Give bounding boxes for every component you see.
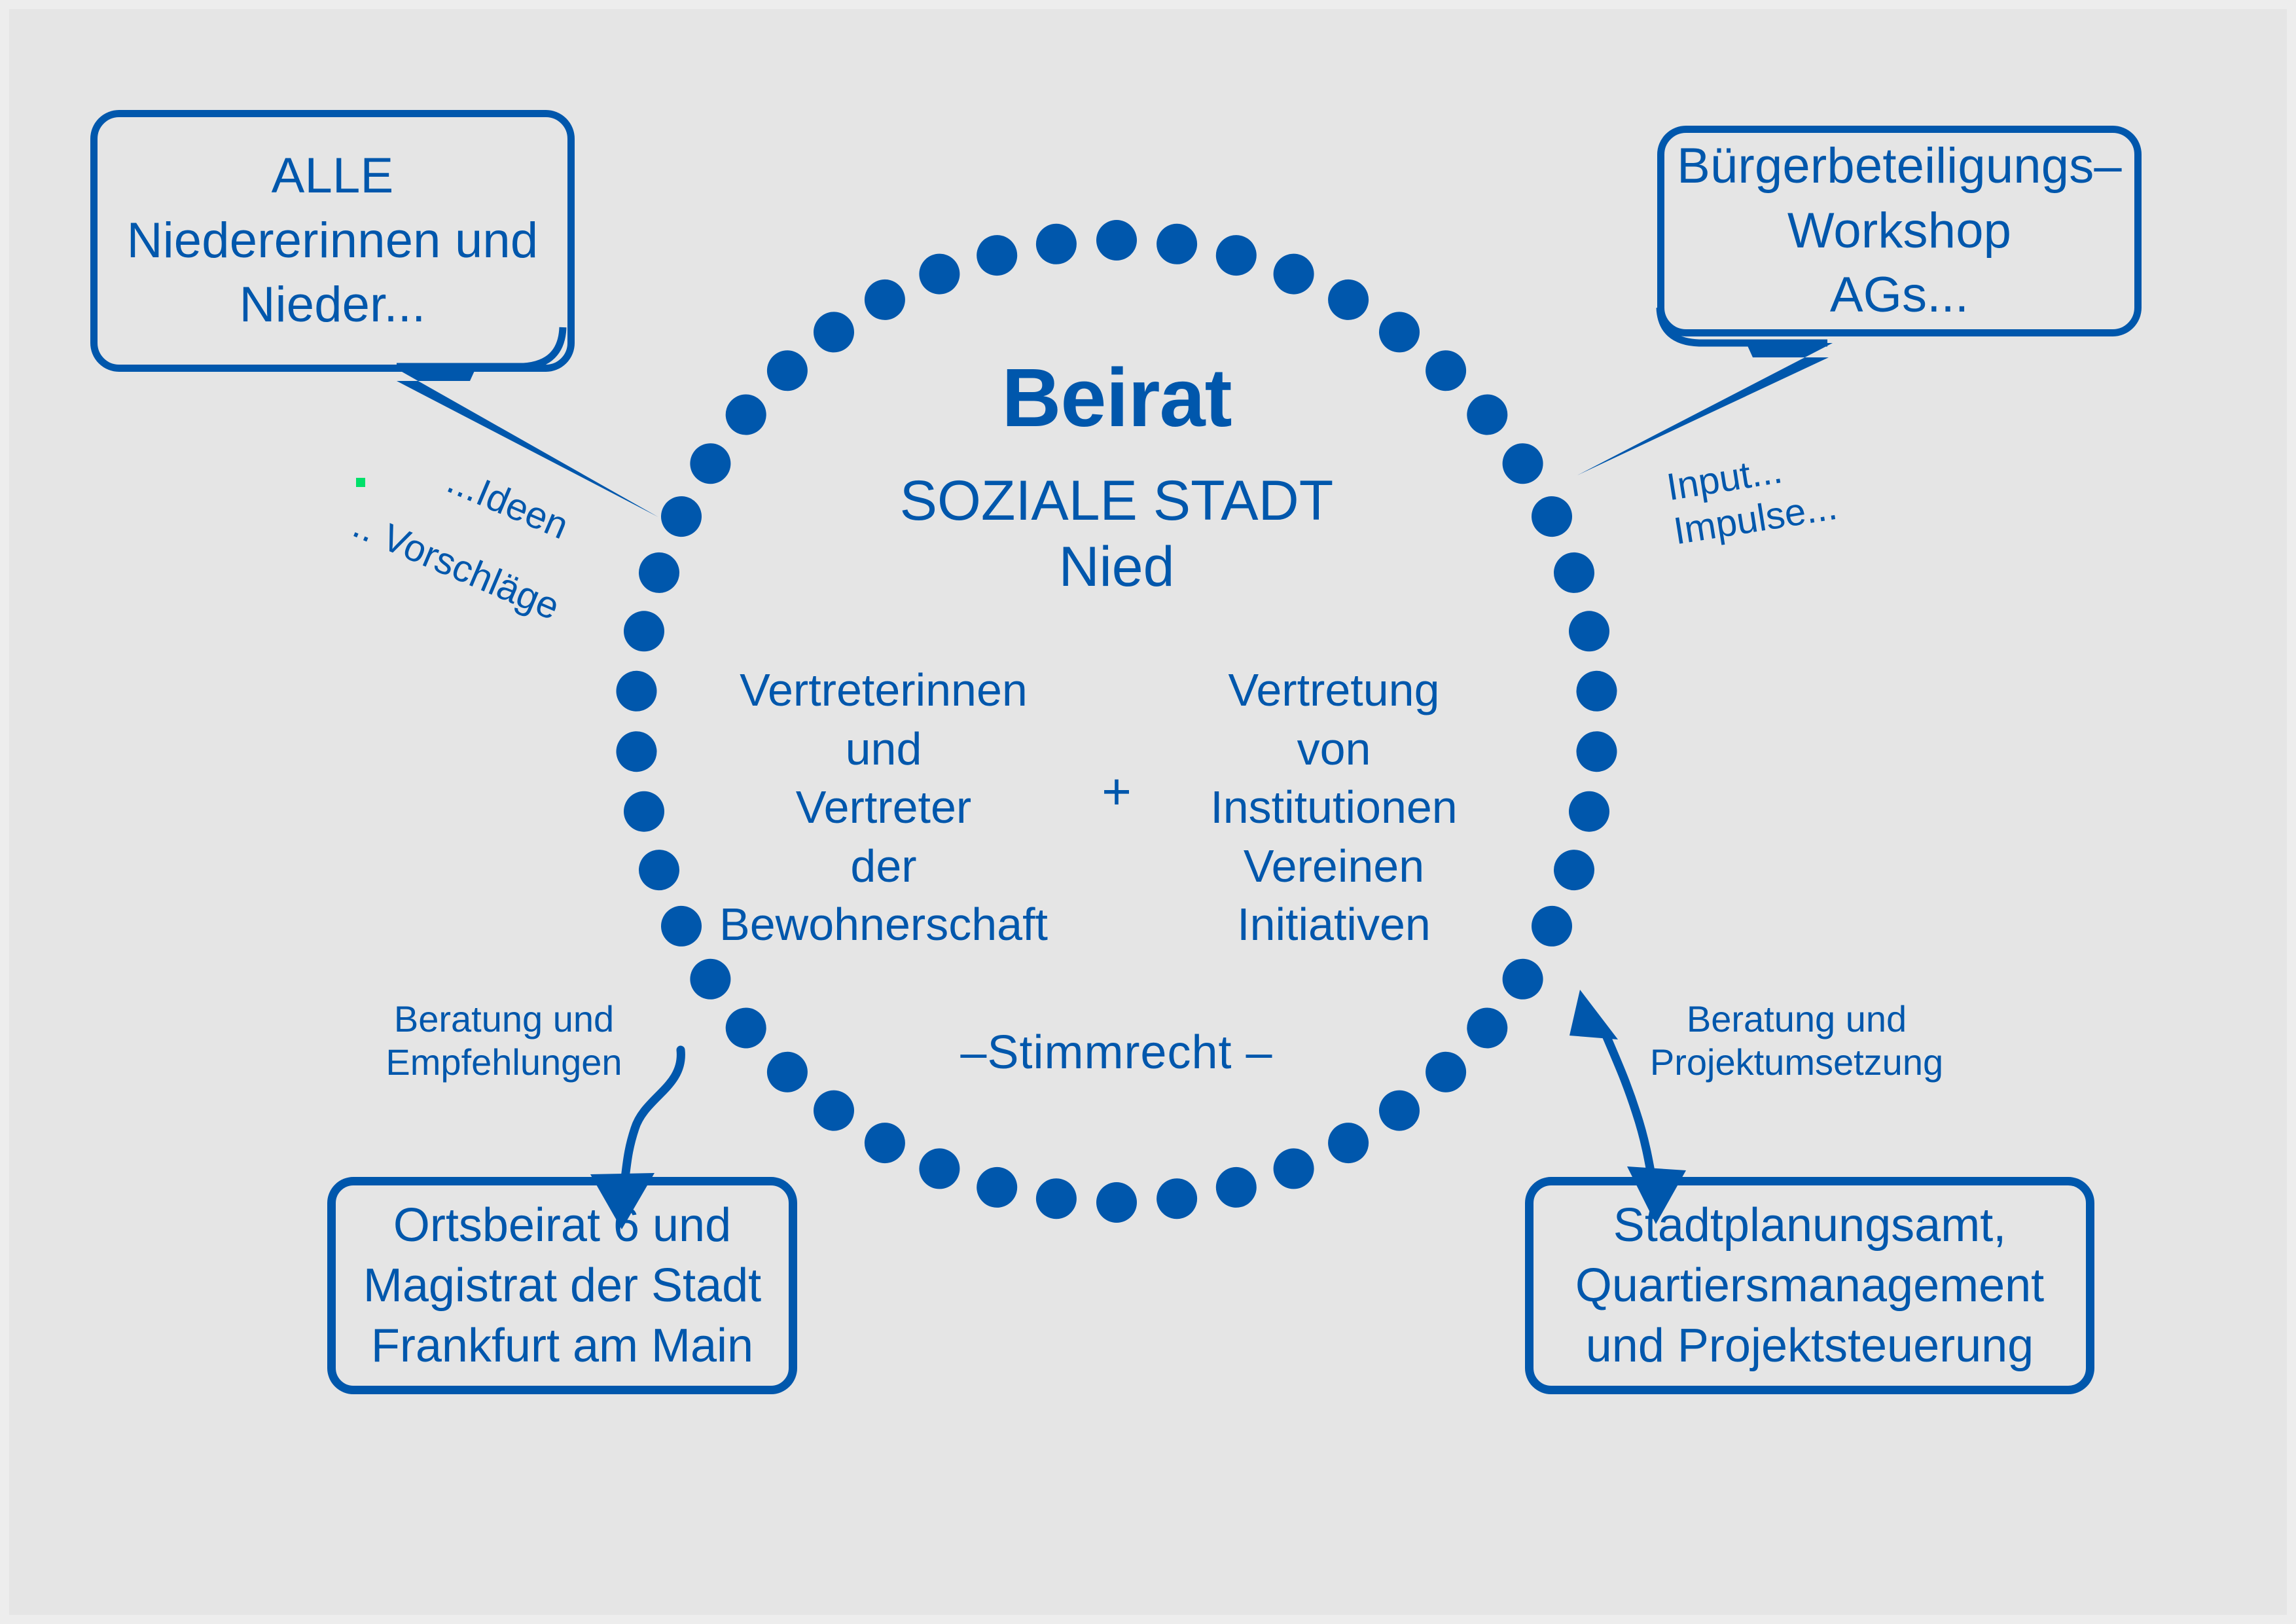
box-ortsbeirat[interactable]: Ortsbeirat 6 und Magistrat der Stadt Fra… (327, 1177, 797, 1394)
circle-dot (972, 230, 1021, 280)
circle-dot (913, 247, 965, 300)
circle-dot (1033, 1176, 1079, 1221)
circle-dot (1459, 1000, 1516, 1056)
circle-dot (857, 272, 912, 327)
circle-dot (655, 490, 708, 543)
circle-dot (1575, 670, 1619, 713)
circle-dot (1459, 386, 1516, 443)
box-ortsbeirat-text: Ortsbeirat 6 und Magistrat der Stadt Fra… (363, 1195, 761, 1376)
circle-dot (1211, 1163, 1261, 1212)
circle-dot (683, 435, 739, 492)
circle-dot (1154, 1176, 1199, 1221)
stimmrecht-note: –Stimmrecht – (888, 1029, 1346, 1076)
circle-dot (1371, 304, 1428, 361)
circle-dot (759, 1043, 816, 1101)
circle-dot (1267, 1142, 1319, 1195)
circle-dot (1566, 787, 1613, 835)
circle-dot (615, 670, 658, 713)
circle-dot (1033, 221, 1079, 266)
green-marker-dot (356, 478, 365, 487)
circle-dot (717, 386, 774, 443)
page-title: Beirat (789, 357, 1444, 439)
circle-dot (1495, 435, 1551, 492)
page-subtitle: SOZIALE STADT Nied (789, 468, 1444, 601)
circle-dot (806, 304, 863, 361)
circle-dot (1417, 1043, 1475, 1101)
circle-dot (620, 787, 668, 835)
circle-dot (1495, 951, 1551, 1007)
circle-dot (1549, 844, 1600, 895)
circle-dot (1566, 607, 1613, 655)
circle-dot (972, 1163, 1021, 1212)
box-stadtplanung-text: Stadtplanungsamt, Quartiersmanagement un… (1575, 1195, 2044, 1376)
circle-dot (615, 730, 658, 773)
circle-dot (1267, 247, 1319, 300)
circle-dot (913, 1142, 965, 1195)
circle-column-right: Vertretung von Institutionen Vereinen In… (1164, 661, 1504, 954)
circle-dot (1575, 730, 1619, 773)
arrow-projektumsetzung-head-up (1570, 990, 1618, 1039)
circle-dot (1549, 547, 1600, 598)
circle-dot (1096, 1182, 1137, 1223)
speech-bubble-alle[interactable]: ALLE Niedererinnen und Nieder... (90, 110, 575, 372)
circle-dot (1525, 490, 1579, 543)
circle-dot (683, 951, 739, 1007)
circle-dot (620, 607, 668, 655)
circle-dot (634, 844, 685, 895)
circle-dot (1321, 272, 1376, 327)
circle-dot (806, 1082, 863, 1139)
circle-dot (1371, 1082, 1428, 1139)
circle-dot (1321, 1115, 1376, 1170)
circle-dot (1211, 230, 1261, 280)
speech-bubble-workshop[interactable]: Bürgerbeteiligungs– Workshop AGs... (1657, 126, 2142, 336)
circle-dot (1154, 221, 1199, 266)
annotation-beratung-empfehlungen: Beratung und Empfehlungen (367, 998, 641, 1084)
circle-dot (717, 1000, 774, 1056)
plus-operator: + (1071, 766, 1162, 817)
diagram-canvas: ALLE Niedererinnen und Nieder... Bürgerb… (0, 0, 2296, 1624)
annotation-beratung-projektumsetzung: Beratung und Projektumsetzung (1643, 998, 1950, 1084)
circle-column-left: Vertreterinnen und Vertreter der Bewohne… (700, 661, 1067, 954)
circle-dot (1096, 220, 1137, 261)
speech-bubble-alle-text: ALLE Niedererinnen und Nieder... (127, 144, 539, 338)
speech-bubble-workshop-text: Bürgerbeteiligungs– Workshop AGs... (1677, 134, 2122, 328)
circle-dot (857, 1115, 912, 1170)
box-stadtplanung[interactable]: Stadtplanungsamt, Quartiersmanagement un… (1525, 1177, 2094, 1394)
circle-dot (634, 547, 685, 598)
circle-dot (1525, 899, 1579, 953)
